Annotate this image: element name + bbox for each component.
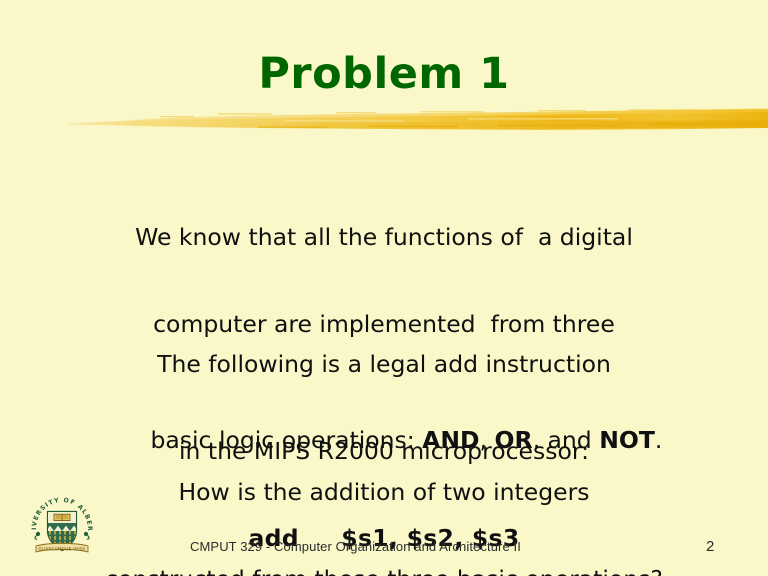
paragraph3-line1: How is the addition of two integers: [0, 478, 768, 507]
slide-page-number: 2: [706, 538, 714, 555]
footer-course-label: CMPUT 329 - Computer Organization and Ar…: [190, 539, 521, 554]
paragraph2-line1: The following is a legal add instruction: [0, 350, 768, 379]
brush-stroke-divider: [68, 104, 768, 138]
university-of-alberta-crest-icon: UNIVERSITY OF ALBERTA: [26, 487, 98, 563]
paragraph3-line2: constructed from these three basic opera…: [0, 565, 768, 576]
svg-text:QUAECUMQUE VERA: QUAECUMQUE VERA: [38, 546, 85, 551]
paragraph1-line1: We know that all the functions of a digi…: [0, 223, 768, 252]
page-title: Problem 1: [0, 52, 768, 97]
slide-canvas: Problem 1: [0, 0, 768, 576]
